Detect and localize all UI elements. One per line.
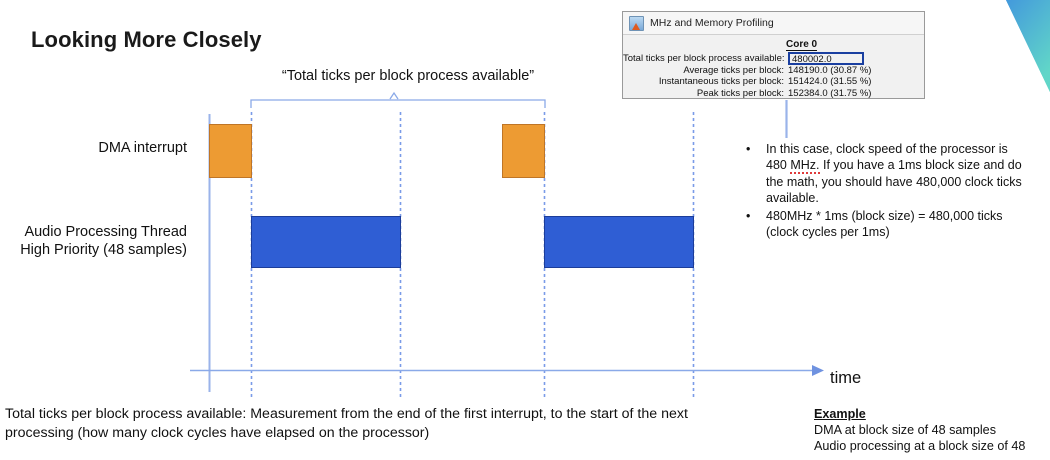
bullet-item: • 480MHz * 1ms (block size) = 480,000 ti…: [742, 208, 1024, 241]
profiling-row-value: 148190.0 (30.87 %): [788, 65, 871, 77]
dma-interrupt-block-1: [209, 124, 252, 178]
profiling-row: Peak ticks per block: 152384.0 (31.75 %): [623, 88, 924, 100]
row-label-audio-processing-thread: Audio Processing Thread High Priority (4…: [0, 223, 187, 259]
bullet-marker-icon: •: [742, 141, 766, 207]
dma-interrupt-block-2: [502, 124, 545, 178]
bullet-item: • In this case, clock speed of the proce…: [742, 141, 1024, 207]
profiling-window-title: MHz and Memory Profiling: [650, 17, 774, 29]
bullet-list: • In this case, clock speed of the proce…: [742, 141, 1024, 241]
measurement-bracket: [251, 93, 545, 108]
bullet-text: 480MHz * 1ms (block size) = 480,000 tick…: [766, 208, 1024, 241]
profiling-row-label: Instantaneous ticks per block:: [623, 76, 788, 88]
audio-processing-block-1: [251, 216, 401, 268]
row-label-dma-interrupt: DMA interrupt: [30, 139, 187, 157]
profiling-column-header: Core 0: [786, 39, 817, 51]
time-axis-arrowhead: [812, 365, 824, 376]
profiling-window-body: Core 0 Total ticks per block process ava…: [623, 35, 924, 98]
mhz-memory-profiling-window[interactable]: MHz and Memory Profiling Core 0 Total ti…: [622, 11, 925, 99]
bullet-marker-icon: •: [742, 208, 766, 241]
profiling-row: Total ticks per block process available:…: [623, 53, 924, 65]
profiling-rows: Total ticks per block process available:…: [623, 53, 924, 99]
spellcheck-underlined-word: MHz.: [790, 158, 819, 174]
bullet-text: In this case, clock speed of the process…: [766, 141, 1024, 207]
audio-processing-block-2: [544, 216, 694, 268]
profiling-row-value-highlighted[interactable]: 480002.0: [788, 52, 864, 65]
app-icon: [629, 16, 644, 31]
bottom-caption-text: Total ticks per block process available:…: [5, 405, 745, 443]
profiling-row-value: 152384.0 (31.75 %): [788, 88, 871, 100]
profiling-window-titlebar: MHz and Memory Profiling: [623, 12, 924, 35]
profiling-row-value: 151424.0 (31.55 %): [788, 76, 871, 88]
example-line-1: DMA at block size of 48 samples: [814, 422, 1050, 438]
row-label-audio-line1: Audio Processing Thread: [24, 224, 187, 240]
example-line-2: Audio processing at a block size of 48: [814, 438, 1050, 454]
profiling-row-label: Total ticks per block process available:: [623, 53, 788, 65]
row-label-audio-line2: High Priority (48 samples): [20, 242, 187, 258]
time-axis-label: time: [830, 369, 861, 388]
example-heading: Example: [814, 406, 1050, 422]
example-block: Example DMA at block size of 48 samples …: [814, 406, 1050, 454]
profiling-row-label: Peak ticks per block:: [623, 88, 788, 100]
profiling-row: Average ticks per block: 148190.0 (30.87…: [623, 65, 924, 77]
profiling-row-label: Average ticks per block:: [623, 65, 788, 77]
profiling-row: Instantaneous ticks per block: 151424.0 …: [623, 76, 924, 88]
slide-canvas: Looking More Closely “Total ticks per bl…: [0, 0, 1050, 460]
